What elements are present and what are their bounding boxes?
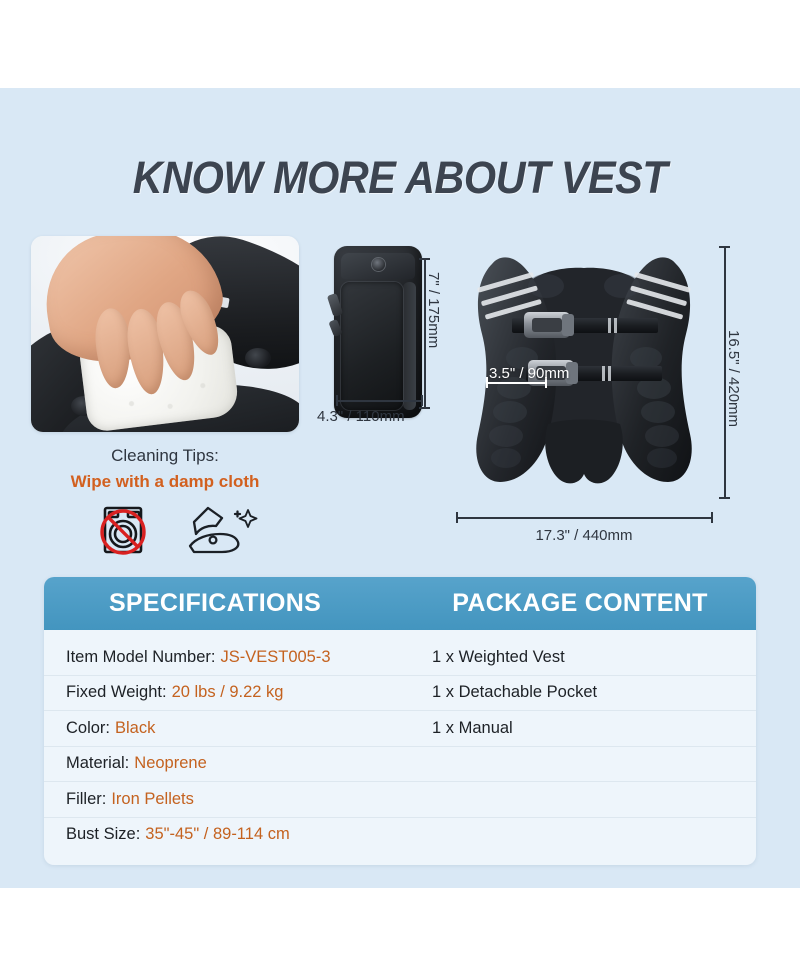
spec-row: Item Model Number: JS-VEST005-3 [44, 640, 400, 676]
dimension-cap [711, 512, 713, 523]
spec-row: Material: Neoprene [44, 747, 400, 783]
package-row: 1 x Manual [400, 711, 756, 747]
dimension-cap [719, 246, 730, 248]
dimension-cap [486, 377, 488, 388]
spec-label: Color: [66, 719, 110, 738]
dimension-cap [419, 258, 430, 260]
package-content-heading: PACKAGE CONTENT [400, 589, 756, 618]
dimension-cap [719, 497, 730, 499]
spec-label: Item Model Number: [66, 648, 215, 667]
spec-label: Filler: [66, 790, 106, 809]
package-row-empty [400, 782, 756, 818]
panel-headers: SPECIFICATIONS PACKAGE CONTENT [44, 577, 756, 630]
page-title: KNOW MORE ABOUT VEST [32, 152, 768, 204]
package-row: 1 x Detachable Pocket [400, 676, 756, 712]
spec-value: JS-VEST005-3 [220, 648, 330, 667]
spec-row: Fixed Weight: 20 lbs / 9.22 kg [44, 676, 400, 712]
product-infographic: KNOW MORE ABOUT VEST 7" / 175mm [0, 0, 800, 977]
buckle [524, 312, 574, 338]
specifications-heading: SPECIFICATIONS [44, 589, 400, 618]
package-content-header: PACKAGE CONTENT [400, 577, 756, 630]
vest-tuft [245, 348, 271, 368]
package-item-label: 1 x Weighted Vest [432, 648, 565, 667]
strap-width-label: 3.5" / 90mm [489, 365, 569, 382]
spec-value: Iron Pellets [111, 790, 194, 809]
specifications-list: Item Model Number: JS-VEST005-3 Fixed We… [44, 630, 400, 865]
pocket-photo [334, 246, 422, 418]
cleaning-tips-label: Cleaning Tips: [0, 446, 330, 466]
spec-label: Material: [66, 754, 129, 773]
spec-value: 20 lbs / 9.22 kg [172, 683, 284, 702]
spec-row: Filler: Iron Pellets [44, 782, 400, 818]
pocket-height-label: 7" / 175mm [425, 272, 442, 348]
info-panel: SPECIFICATIONS PACKAGE CONTENT Item Mode… [44, 577, 756, 865]
cleaning-photo [31, 236, 299, 432]
spec-value: Neoprene [134, 754, 206, 773]
spec-row: Bust Size: 35"-45" / 89-114 cm [44, 818, 400, 853]
dimension-cap [421, 395, 423, 406]
spec-value: 35"-45" / 89-114 cm [145, 825, 289, 844]
spec-label: Fixed Weight: [66, 683, 167, 702]
package-row: 1 x Weighted Vest [400, 640, 756, 676]
package-row-empty [400, 747, 756, 783]
dimension-cap [419, 407, 430, 409]
wipe-with-cloth-icon [182, 504, 258, 558]
pocket-side-panel [403, 282, 416, 410]
package-item-label: 1 x Manual [432, 719, 513, 738]
vest-height-label: 16.5" / 420mm [725, 330, 742, 427]
pocket-width-label: 4.3" / 110mm [317, 408, 405, 425]
cleaning-tips-text: Wipe with a damp cloth [0, 472, 330, 492]
pocket-width-dimension-line [336, 400, 422, 402]
spec-label: Bust Size: [66, 825, 140, 844]
package-row-empty [400, 818, 756, 853]
pocket-grommet [372, 258, 385, 271]
package-item-label: 1 x Detachable Pocket [432, 683, 597, 702]
vest-width-dimension-line [456, 517, 712, 519]
specifications-header: SPECIFICATIONS [44, 577, 400, 630]
package-content-list: 1 x Weighted Vest 1 x Detachable Pocket … [400, 630, 756, 865]
pocket-front-pocket [341, 282, 403, 410]
dimension-cap [456, 512, 458, 523]
dimension-cap [336, 395, 338, 406]
strap-dimension-line [486, 382, 546, 384]
spec-row: Color: Black [44, 711, 400, 747]
no-washing-machine-icon [92, 502, 154, 558]
spec-value: Black [115, 719, 155, 738]
panel-columns: Item Model Number: JS-VEST005-3 Fixed We… [44, 630, 756, 865]
